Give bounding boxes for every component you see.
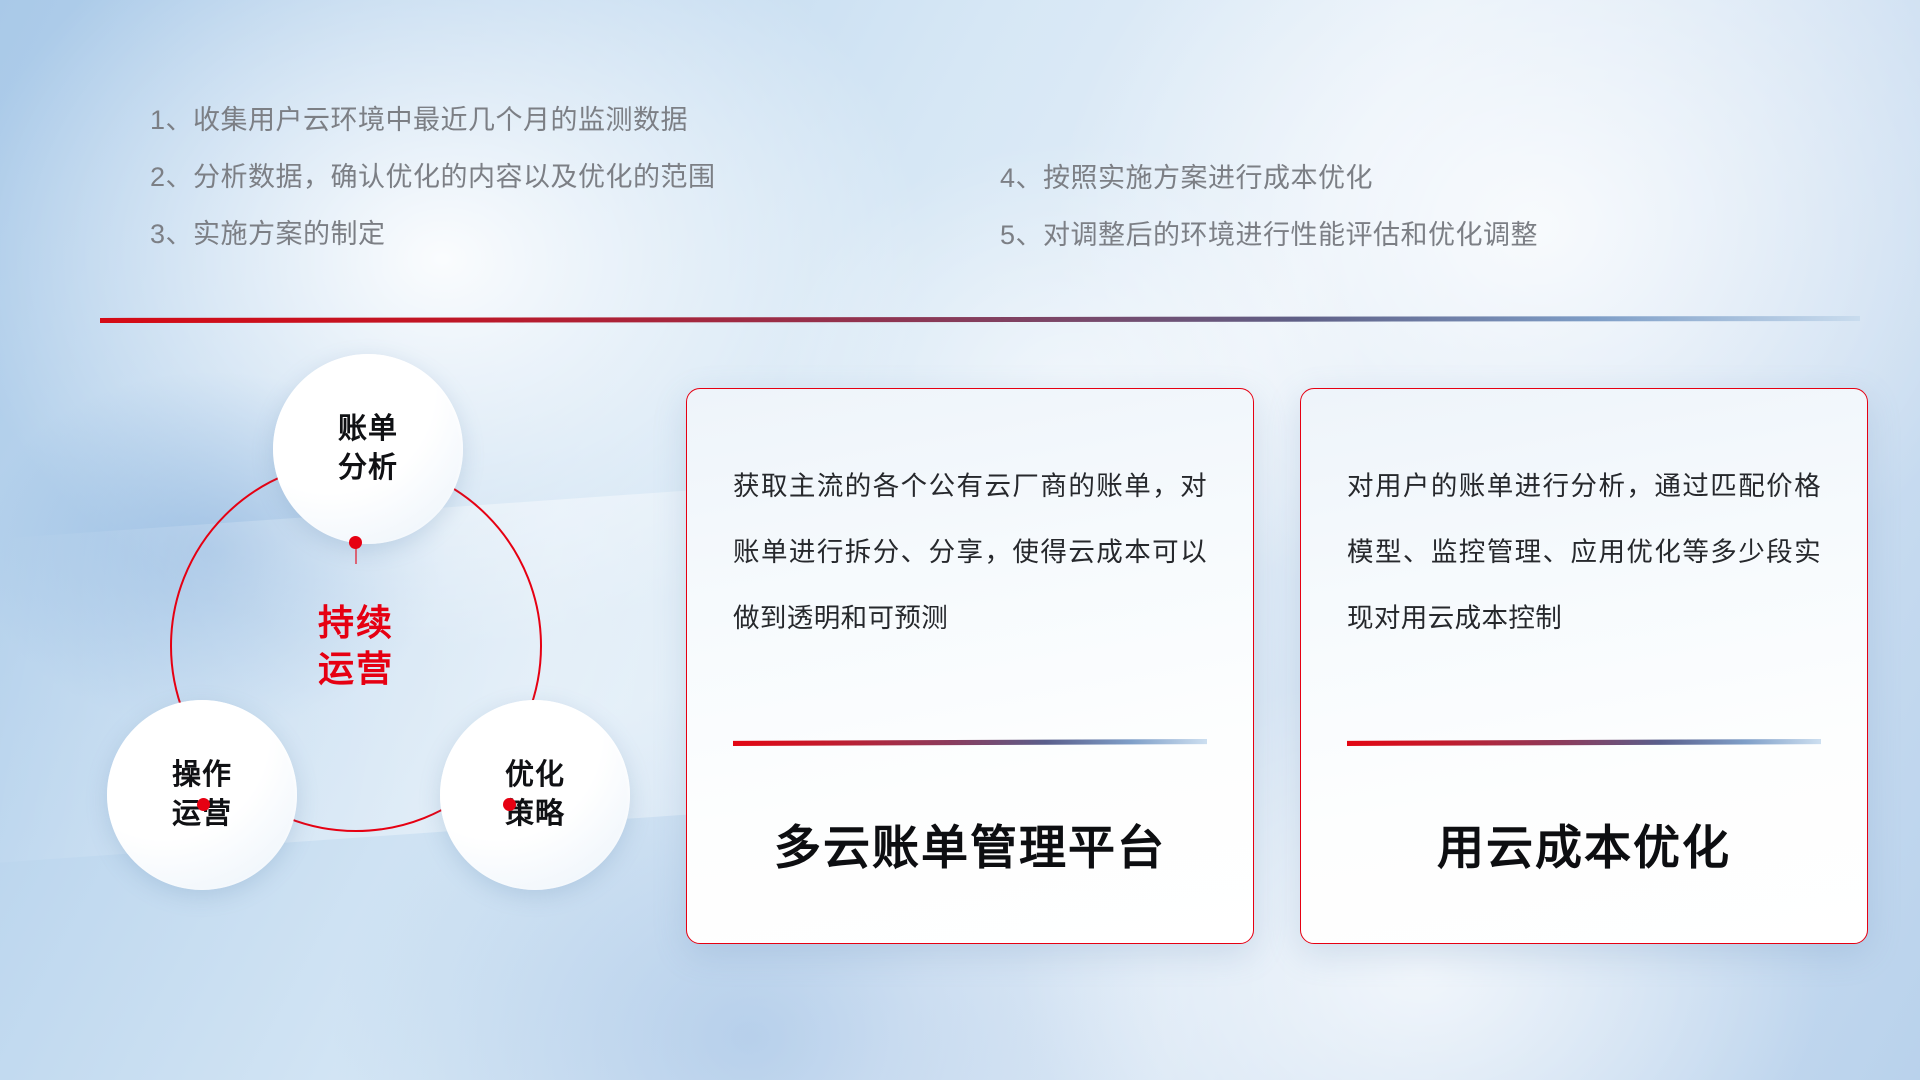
bullet-item: 2、分析数据，确认优化的内容以及优化的范围 bbox=[150, 149, 716, 206]
feature-card-multicloud-billing[interactable]: 获取主流的各个公有云厂商的账单，对账单进行拆分、分享，使得云成本可以做到透明和可… bbox=[686, 388, 1254, 944]
bullet-item: 3、实施方案的制定 bbox=[150, 206, 716, 263]
node-label-line-2: 分析 bbox=[338, 449, 398, 488]
feature-card-cost-optimization[interactable]: 对用户的账单进行分析，通过匹配价格模型、监控管理、应用优化等多少段实现对用云成本… bbox=[1300, 388, 1868, 944]
node-label-line-1: 优化 bbox=[505, 756, 565, 795]
card-divider bbox=[1347, 739, 1821, 746]
center-label-line-1: 持续 bbox=[318, 600, 394, 646]
card-title: 多云账单管理平台 bbox=[733, 809, 1207, 878]
card-title: 用云成本优化 bbox=[1347, 809, 1821, 878]
venn-node-operations[interactable]: 操作 运营 bbox=[107, 700, 297, 890]
card-body-text: 获取主流的各个公有云厂商的账单，对账单进行拆分、分享，使得云成本可以做到透明和可… bbox=[733, 453, 1207, 651]
node-label-line-1: 账单 bbox=[338, 410, 398, 449]
slide-canvas: 1、收集用户云环境中最近几个月的监测数据 2、分析数据，确认优化的内容以及优化的… bbox=[0, 0, 1920, 1080]
connector-dot-bottom-left bbox=[197, 798, 210, 811]
bullet-list-right: 4、按照实施方案进行成本优化 5、对调整后的环境进行性能评估和优化调整 bbox=[1000, 150, 1538, 264]
bullet-list-left: 1、收集用户云环境中最近几个月的监测数据 2、分析数据，确认优化的内容以及优化的… bbox=[150, 92, 716, 263]
center-label-line-2: 运营 bbox=[318, 646, 394, 692]
venn-node-optimization-strategy[interactable]: 优化 策略 bbox=[440, 700, 630, 890]
bullet-item: 4、按照实施方案进行成本优化 bbox=[1000, 150, 1538, 207]
venn-node-bill-analysis[interactable]: 账单 分析 bbox=[273, 354, 463, 544]
node-label-line-1: 操作 bbox=[172, 756, 232, 795]
venn-diagram: 持续 运营 账单 分析 操作 运营 优化 策略 bbox=[95, 350, 635, 950]
bullet-item: 1、收集用户云环境中最近几个月的监测数据 bbox=[150, 92, 716, 149]
connector-dot-bottom-right bbox=[503, 798, 516, 811]
card-divider bbox=[733, 739, 1207, 746]
bullet-item: 5、对调整后的环境进行性能评估和优化调整 bbox=[1000, 207, 1538, 264]
card-body-text: 对用户的账单进行分析，通过匹配价格模型、监控管理、应用优化等多少段实现对用云成本… bbox=[1347, 453, 1821, 651]
connector-dot-top bbox=[349, 536, 362, 549]
